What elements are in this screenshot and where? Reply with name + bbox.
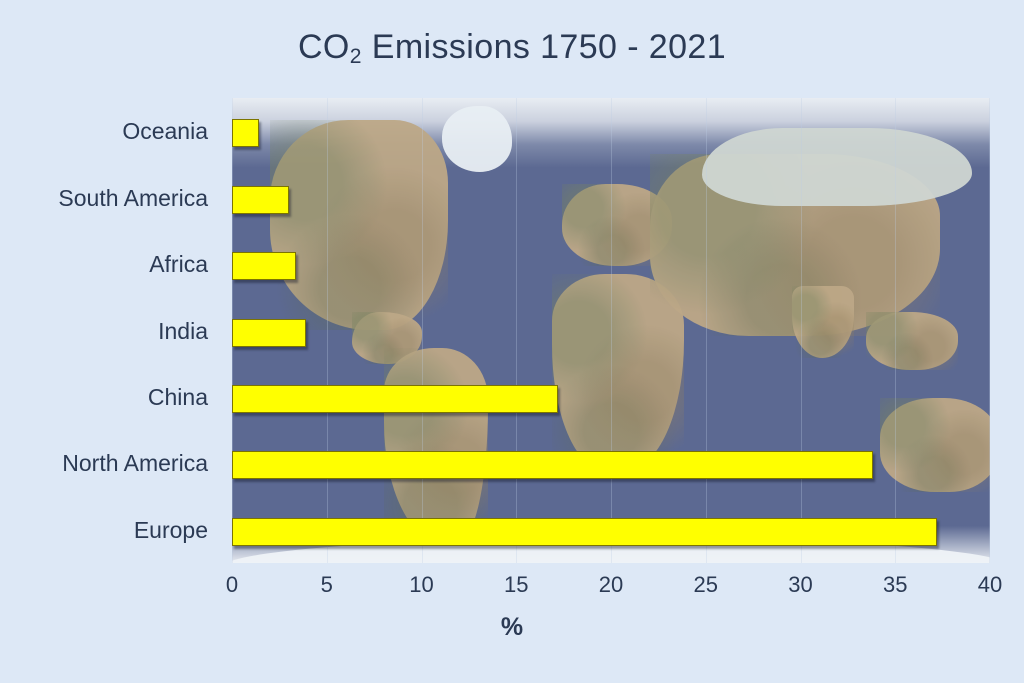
y-axis-label-oceania: Oceania (122, 118, 208, 145)
landmass-southeast-asia (866, 312, 958, 370)
gridline (516, 98, 517, 563)
gridline (706, 98, 707, 563)
chart-figure: CO2 Emissions 1750 - 2021 (0, 0, 1024, 683)
y-axis-label-south-america: South America (58, 185, 208, 212)
bar-africa (232, 252, 296, 280)
x-tick-15: 15 (504, 572, 528, 598)
plot-area (232, 98, 990, 563)
x-tick-5: 5 (321, 572, 333, 598)
x-tick-40: 40 (978, 572, 1002, 598)
bar-south-america (232, 186, 289, 214)
x-axis-title: % (0, 613, 1024, 642)
landmass-greenland (442, 106, 512, 172)
x-tick-20: 20 (599, 572, 623, 598)
gridline (327, 98, 328, 563)
bar-china (232, 385, 558, 413)
landmass-south-america (384, 348, 488, 544)
y-axis-label-europe: Europe (134, 517, 208, 544)
y-axis-label-africa: Africa (149, 251, 208, 278)
x-tick-10: 10 (409, 572, 433, 598)
chart-title-prefix: CO (298, 28, 350, 66)
landmass-australia (880, 398, 990, 492)
gridline (895, 98, 896, 563)
gridline (801, 98, 802, 563)
gridline (989, 98, 990, 563)
y-axis-label-india: India (158, 318, 208, 345)
x-tick-0: 0 (226, 572, 238, 598)
y-axis-label-china: China (148, 384, 208, 411)
bar-europe (232, 518, 937, 546)
x-tick-30: 30 (788, 572, 812, 598)
y-axis-label-north-america: North America (62, 450, 208, 477)
landmass-siberia (702, 128, 972, 206)
x-tick-35: 35 (883, 572, 907, 598)
gridline (611, 98, 612, 563)
bar-india (232, 319, 306, 347)
chart-title-subscript: 2 (350, 45, 362, 68)
x-axis-tick-labels: 0510152025303540 (0, 572, 1024, 606)
bar-oceania (232, 119, 259, 147)
chart-title-suffix: Emissions 1750 - 2021 (362, 28, 726, 66)
x-tick-25: 25 (694, 572, 718, 598)
bar-north-america (232, 451, 873, 479)
gridline (422, 98, 423, 563)
